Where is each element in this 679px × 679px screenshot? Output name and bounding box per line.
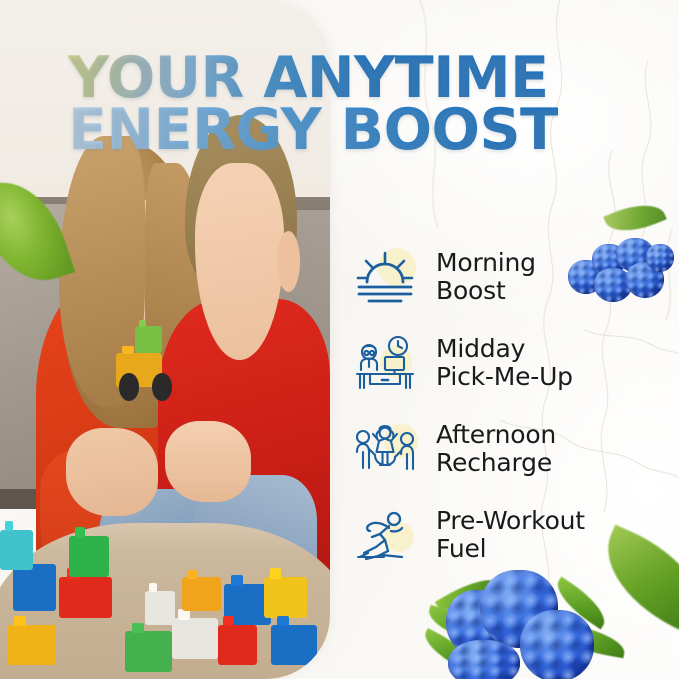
headline: YOUR ANYTIME ENERGY BOOST [68, 52, 558, 157]
feature-label-line-1: Morning [436, 249, 536, 277]
feature-label-line-2: Pick-Me-Up [436, 363, 573, 391]
blue-raspberry-cluster-large [424, 566, 654, 679]
children-jump-rope-icon [352, 416, 418, 482]
feature-item-afternoon-recharge: Afternoon Recharge [352, 406, 672, 492]
feature-item-pre-workout-fuel: Pre-Workout Fuel [352, 492, 672, 578]
sunrise-icon [352, 244, 418, 310]
headline-line-2: ENERGY BOOST [68, 104, 558, 156]
feature-label-line-2: Fuel [436, 535, 585, 563]
desk-worker-clock-icon [352, 330, 418, 396]
feature-label-midday-pick-me-up: Midday Pick-Me-Up [436, 335, 573, 391]
promo-graphic-canvas: YOUR ANYTIME ENERGY BOOST [0, 0, 679, 679]
feature-label-line-2: Recharge [436, 449, 556, 477]
feature-item-morning-boost: Morning Boost [352, 234, 672, 320]
feature-label-line-1: Pre-Workout [436, 507, 585, 535]
feature-label-afternoon-recharge: Afternoon Recharge [436, 421, 556, 477]
feature-label-morning-boost: Morning Boost [436, 249, 536, 305]
feature-label-line-2: Boost [436, 277, 536, 305]
feature-label-pre-workout-fuel: Pre-Workout Fuel [436, 507, 585, 563]
feature-label-line-1: Midday [436, 335, 573, 363]
feature-list: Morning Boost [352, 234, 672, 578]
feature-label-line-1: Afternoon [436, 421, 556, 449]
runner-icon [352, 502, 418, 568]
feature-item-midday-pick-me-up: Midday Pick-Me-Up [352, 320, 672, 406]
